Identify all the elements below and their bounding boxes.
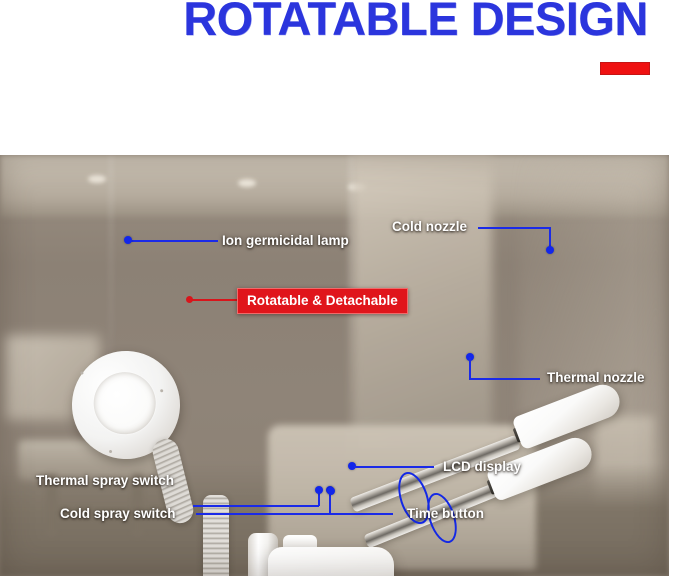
lamp-screw (160, 389, 163, 392)
leader-line-ion-germicidal-lamp (130, 240, 218, 242)
leader-line-thermal-nozzle-vertical (469, 357, 471, 379)
marker-dot-rotatable-detachable (186, 296, 193, 303)
marker-dot-time-button (327, 487, 335, 495)
accent-bar (600, 62, 650, 75)
leader-line-thermal-nozzle (469, 378, 540, 380)
callout-cold-nozzle: Cold nozzle (392, 219, 467, 234)
lamp-screw (109, 450, 112, 453)
magnifier-lens (89, 368, 160, 439)
marker-dot-cold-nozzle (546, 246, 554, 254)
lamp-screw (80, 371, 83, 374)
marker-dot-ion-germicidal-lamp (124, 236, 132, 244)
callout-time-button: Time button (407, 506, 484, 521)
leader-line-cold-spray-switch (196, 513, 330, 515)
callout-thermal-spray-switch: Thermal spray switch (36, 473, 174, 488)
callout-thermal-nozzle: Thermal nozzle (547, 370, 645, 385)
leader-line-cold-nozzle (478, 227, 550, 229)
ceiling-light-icon (238, 179, 256, 187)
marker-dot-thermal-spray-switch (315, 486, 323, 494)
page-title: ROTATABLE DESIGN (0, 0, 671, 46)
gooseneck-tube (203, 495, 229, 576)
status-badge-rotatable-detachable: Rotatable & Detachable (237, 288, 408, 314)
leader-line-thermal-spray-switch (193, 505, 319, 507)
callout-ion-germicidal-lamp: Ion germicidal lamp (222, 233, 349, 248)
ceiling-light-icon (88, 175, 106, 183)
leader-line-rotatable-detachable (192, 299, 240, 301)
callout-lcd-display: LCD display (443, 459, 521, 474)
callout-cold-spray-switch: Cold spray switch (60, 506, 176, 521)
leader-line-time-button (330, 513, 393, 515)
leader-line-lcd-display (354, 466, 434, 468)
infographic-page: ROTATABLE DESIGN (0, 0, 679, 576)
main-body (268, 547, 394, 576)
